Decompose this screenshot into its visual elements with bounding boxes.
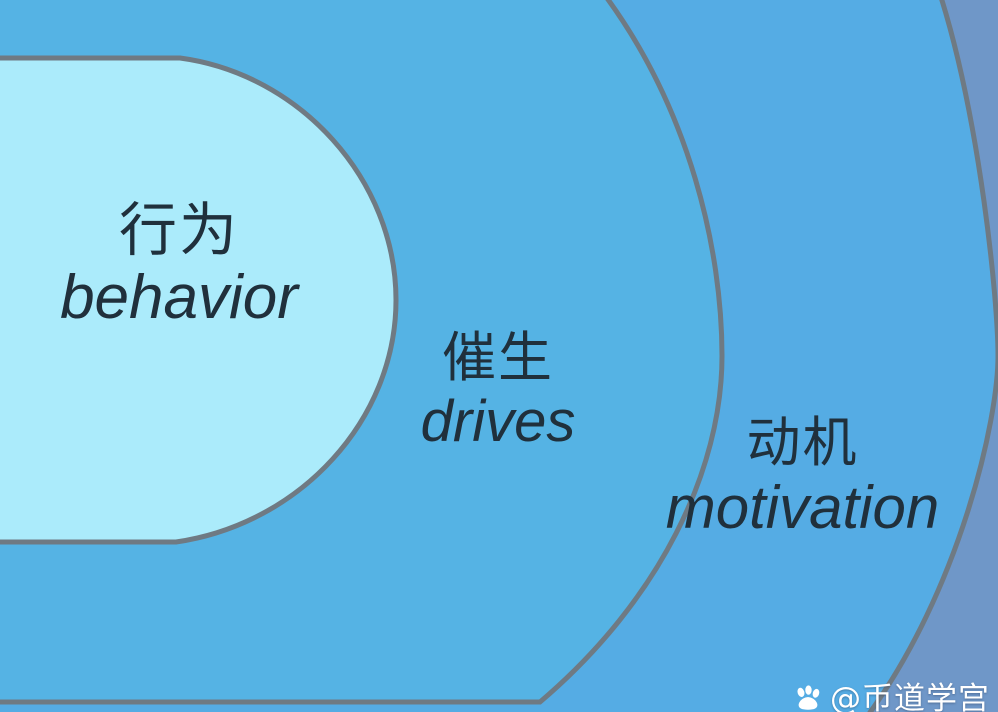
paw-print-icon [793, 683, 823, 712]
band-label-motivation: 动机 motivation [645, 415, 960, 540]
diagram-canvas: 行为 behavior 催生 drives 动机 motivation @币道学… [0, 0, 998, 712]
band-label-motivation-cn: 动机 [645, 415, 960, 471]
band-label-drives-en: drives [383, 392, 613, 452]
watermark: @币道学宫 [793, 673, 990, 712]
band-label-behavior-en: behavior [14, 266, 344, 330]
band-label-drives-cn: 催生 [383, 330, 613, 386]
band-label-motivation-en: motivation [645, 477, 960, 539]
band-label-behavior: 行为 behavior [14, 200, 344, 331]
band-label-drives: 催生 drives [383, 330, 613, 452]
band-label-behavior-cn: 行为 [14, 200, 344, 260]
watermark-text: @币道学宫 [830, 673, 990, 712]
